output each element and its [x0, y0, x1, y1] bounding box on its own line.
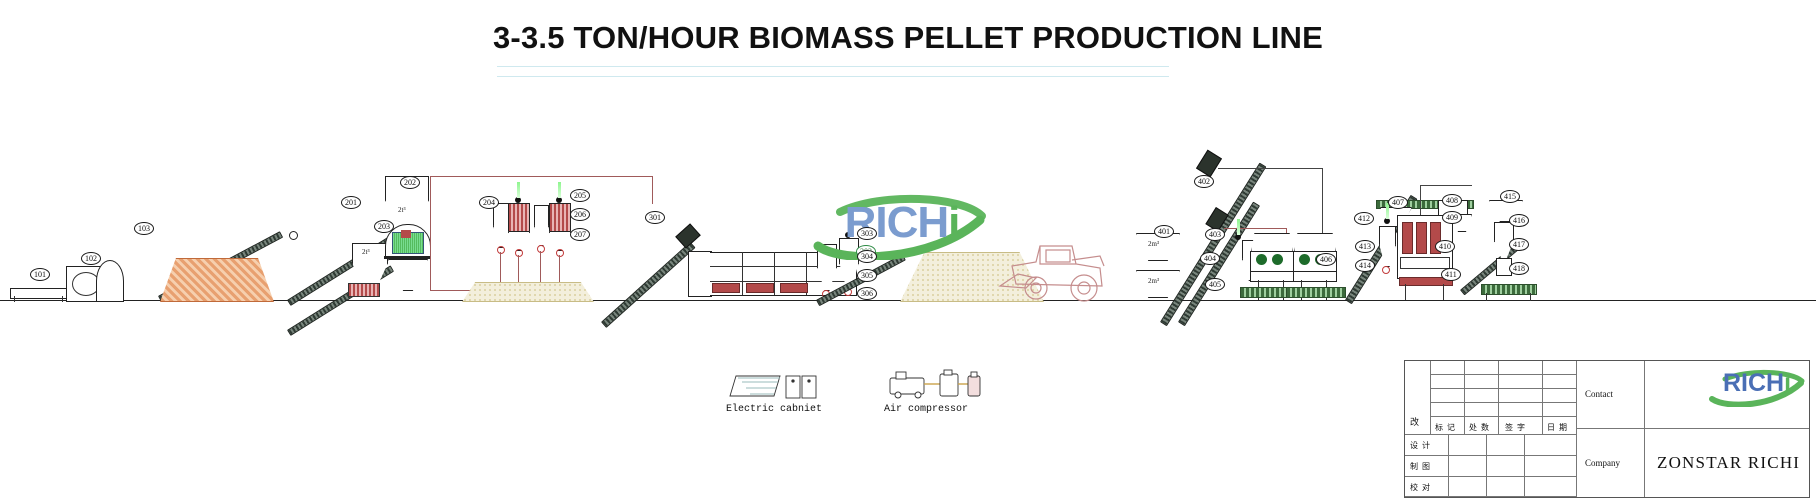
equipment-tag-206: 206	[570, 208, 590, 221]
tb-l1c	[1487, 435, 1525, 456]
cyclone-206-cone	[534, 225, 549, 246]
pellet-mill-a-roller-1	[1256, 254, 1267, 265]
surge-bin-lower-body	[352, 243, 388, 264]
hammer-mill-base	[384, 256, 430, 259]
conveyor-103-head-pulley	[289, 231, 298, 240]
tb-r3c4	[1543, 389, 1577, 403]
equipment-tag-403: 403	[1205, 228, 1225, 241]
tb-hdr3-text: 签 字	[1505, 422, 1526, 433]
electric-cabinet-icon	[728, 370, 820, 400]
tb-l1d	[1525, 435, 1577, 456]
dryer-support-2	[746, 283, 774, 293]
tb-l3c	[1487, 477, 1525, 497]
wheel-loader-icon	[996, 230, 1116, 302]
bin-202-capacity: 2t³	[398, 206, 406, 214]
equipment-tag-417: 417	[1509, 238, 1529, 251]
drawing-title-block: 改 标 记 处 数 签 字 日 期 设 计 制 图 校 对	[1404, 360, 1810, 498]
tb-l3b	[1449, 477, 1487, 497]
tb-contact-label: Contact	[1585, 389, 1613, 399]
pellet-mill-b-hopper	[1294, 233, 1336, 253]
cooler-leg-1	[1405, 284, 1406, 300]
pellet-mill-a-roller-2	[1272, 254, 1283, 265]
duct-203-top	[430, 176, 652, 177]
air-compressor-icon	[888, 368, 990, 402]
equipment-tag-404: 404	[1200, 252, 1220, 265]
crushed-material-pile	[462, 282, 594, 302]
equipment-tag-411: 411	[1441, 268, 1461, 281]
dryer-drum-line-b	[710, 281, 856, 282]
pellet-duct-mid	[1224, 228, 1286, 229]
tb-l1-text: 设 计	[1410, 440, 1431, 451]
title-block-logo: RICHi	[1709, 367, 1805, 407]
equipment-tag-413: 413	[1355, 240, 1375, 253]
tb-r2c1	[1431, 375, 1465, 389]
richi-wordmark-i: i	[948, 198, 959, 247]
tb-r1c2	[1465, 361, 1499, 375]
mill-feeder	[348, 283, 380, 297]
equipment-tag-414: 414	[1355, 259, 1375, 272]
tb-r2c2	[1465, 375, 1499, 389]
tb-l2d	[1525, 456, 1577, 477]
bin-lower-capacity: 2t³	[362, 248, 370, 256]
tb-r4c4	[1543, 403, 1577, 417]
tb-r3c3	[1499, 389, 1543, 403]
equipment-tag-204: 204	[479, 196, 499, 209]
equipment-tag-405: 405	[1205, 278, 1225, 291]
elevator-402-head	[1196, 150, 1222, 178]
tb-l2b	[1449, 456, 1487, 477]
cooler-fan-duct-h	[1420, 185, 1472, 186]
tb-r4c1	[1431, 403, 1465, 417]
cyclone-206-body	[534, 205, 549, 227]
cyclone-304-motor	[845, 232, 851, 238]
feed-conveyor-101	[10, 288, 70, 299]
tb-hdr1-text: 标 记	[1435, 422, 1456, 433]
feeder-404-spark	[1237, 219, 1240, 235]
duct-203-riser	[430, 176, 431, 290]
drop-206	[540, 251, 541, 282]
tb-r1c3	[1499, 361, 1543, 375]
equipment-tag-203: 203	[374, 220, 394, 233]
pellet-mill-a-hopper	[1251, 233, 1293, 253]
bag-conveyor-leg-2	[1530, 293, 1531, 301]
tb-r2c3	[1499, 375, 1543, 389]
dryer-inlet-box	[688, 251, 712, 297]
equipment-tag-304: 304	[857, 250, 877, 263]
airlock-413-box	[1379, 226, 1396, 246]
title-block-wordmark-rich: RICH	[1723, 369, 1784, 397]
cooler-window-1	[1402, 222, 1413, 254]
hammer-mill-discharge	[388, 259, 428, 291]
title-block-wordmark-i: i	[1784, 369, 1791, 397]
tb-l1b	[1449, 435, 1487, 456]
equipment-tag-301: 301	[645, 211, 665, 224]
buffer-bin-405-capacity: 2m³	[1148, 277, 1159, 285]
tb-l3-text: 校 对	[1410, 482, 1431, 493]
tb-rev-mark: 改	[1410, 415, 1419, 428]
tb-l2-text: 制 图	[1410, 461, 1431, 472]
feed-leg-a	[14, 296, 15, 302]
cyclone-204-cone	[493, 225, 509, 248]
feed-leg-b	[62, 296, 63, 302]
pellet-duct-top	[1218, 168, 1322, 169]
tb-r3c1	[1431, 389, 1465, 403]
equipment-tag-102: 102	[81, 252, 101, 265]
dryer-support-1	[712, 283, 740, 293]
air-compressor-label: Air compressor	[852, 404, 1000, 415]
tb-l3d	[1525, 477, 1577, 497]
mill-unit-207	[549, 203, 571, 233]
drop-204	[500, 252, 501, 282]
equipment-tag-409: 409	[1442, 211, 1462, 224]
richi-wordmark-rich: RICH	[845, 198, 949, 247]
tb-r1c4	[1543, 361, 1577, 375]
tb-r2c4	[1543, 375, 1577, 389]
tb-r4c2	[1465, 403, 1499, 417]
equipment-tag-103: 103	[134, 222, 154, 235]
mill-unit-205	[508, 203, 530, 233]
drop-205	[518, 255, 519, 282]
bag-conveyor-leg-1	[1486, 293, 1487, 301]
tb-r4c3	[1499, 403, 1543, 417]
cyclone-303-body	[817, 244, 837, 268]
tb-l2c	[1487, 456, 1525, 477]
drum-cover	[96, 260, 124, 302]
title-underline	[497, 66, 1169, 77]
duct-to-cyclone	[652, 176, 653, 204]
cooler-fan-duct	[1420, 185, 1421, 215]
mill-unit-207-cone	[549, 231, 571, 251]
tb-r3c2	[1465, 389, 1499, 403]
pellet-mill-b-roller-1	[1299, 254, 1310, 265]
cyclone-206-airlock	[537, 245, 545, 253]
equipment-tag-303: 303	[857, 227, 877, 240]
equipment-tag-306: 306	[857, 287, 877, 300]
tb-r1c1	[1431, 361, 1465, 375]
equipment-tag-416: 416	[1509, 214, 1529, 227]
cooler-discharge	[1400, 257, 1450, 269]
equipment-tag-205: 205	[570, 189, 590, 202]
equipment-tag-201: 201	[341, 196, 361, 209]
cyclone-204-airlock	[497, 246, 505, 254]
equipment-tag-305: 305	[857, 269, 877, 282]
equipment-tag-406: 406	[1316, 253, 1336, 266]
equipment-tag-418: 418	[1509, 262, 1529, 275]
raw-material-pile	[160, 258, 274, 302]
page-title: 3-3.5 TON/HOUR BIOMASS PELLET PRODUCTION…	[0, 20, 1816, 56]
mill-205-feed-spark	[517, 182, 520, 198]
equipment-tag-401: 401	[1154, 225, 1174, 238]
dryer-rib-1	[742, 252, 743, 295]
tb-company-label: Company	[1585, 458, 1620, 468]
hammer-mill-inlet	[401, 230, 411, 238]
title-block-wordmark: RICHi	[1709, 369, 1805, 398]
pellet-mill-b-base	[1293, 271, 1337, 282]
equipment-tag-402: 402	[1194, 175, 1214, 188]
equipment-tag-207: 207	[570, 228, 590, 241]
electric-cabinet-label: Electric cabniet	[700, 404, 848, 415]
tb-hdr2-text: 处 数	[1469, 422, 1490, 433]
airlock-414-valve	[1382, 266, 1390, 274]
equipment-tag-408: 408	[1442, 194, 1462, 207]
equipment-tag-101: 101	[30, 268, 50, 281]
equipment-tag-202: 202	[400, 176, 420, 189]
mill-unit-205-cone	[508, 231, 530, 251]
cooler-window-2	[1416, 222, 1427, 254]
conveyor-301-drive	[675, 223, 701, 248]
bag-out-conveyor	[1481, 284, 1537, 295]
mill-207-airlock	[556, 249, 564, 257]
drop-207	[559, 255, 560, 282]
buffer-bin-401-capacity: 2m³	[1148, 240, 1159, 248]
cooler-leg-2	[1443, 284, 1444, 300]
diagram-canvas: 3-3.5 TON/HOUR BIOMASS PELLET PRODUCTION…	[0, 0, 1816, 499]
pellet-mill-b-platform	[1286, 287, 1346, 298]
pellet-mill-a-base	[1250, 271, 1294, 282]
mill-205-airlock	[515, 249, 523, 257]
dryer-support-3	[780, 283, 808, 293]
equipment-tag-410: 410	[1435, 240, 1455, 253]
equipment-tag-415: 415	[1500, 190, 1520, 203]
tb-hdr4-text: 日 期	[1547, 422, 1568, 433]
tb-company-value: ZONSTAR RICHI	[1657, 453, 1800, 473]
dryer-feed-conveyor-301	[601, 242, 696, 328]
dryer-rib-2	[774, 252, 775, 295]
mill-207-feed-spark	[558, 182, 561, 198]
equipment-tag-407: 407	[1388, 196, 1408, 209]
equipment-tag-412: 412	[1354, 212, 1374, 225]
